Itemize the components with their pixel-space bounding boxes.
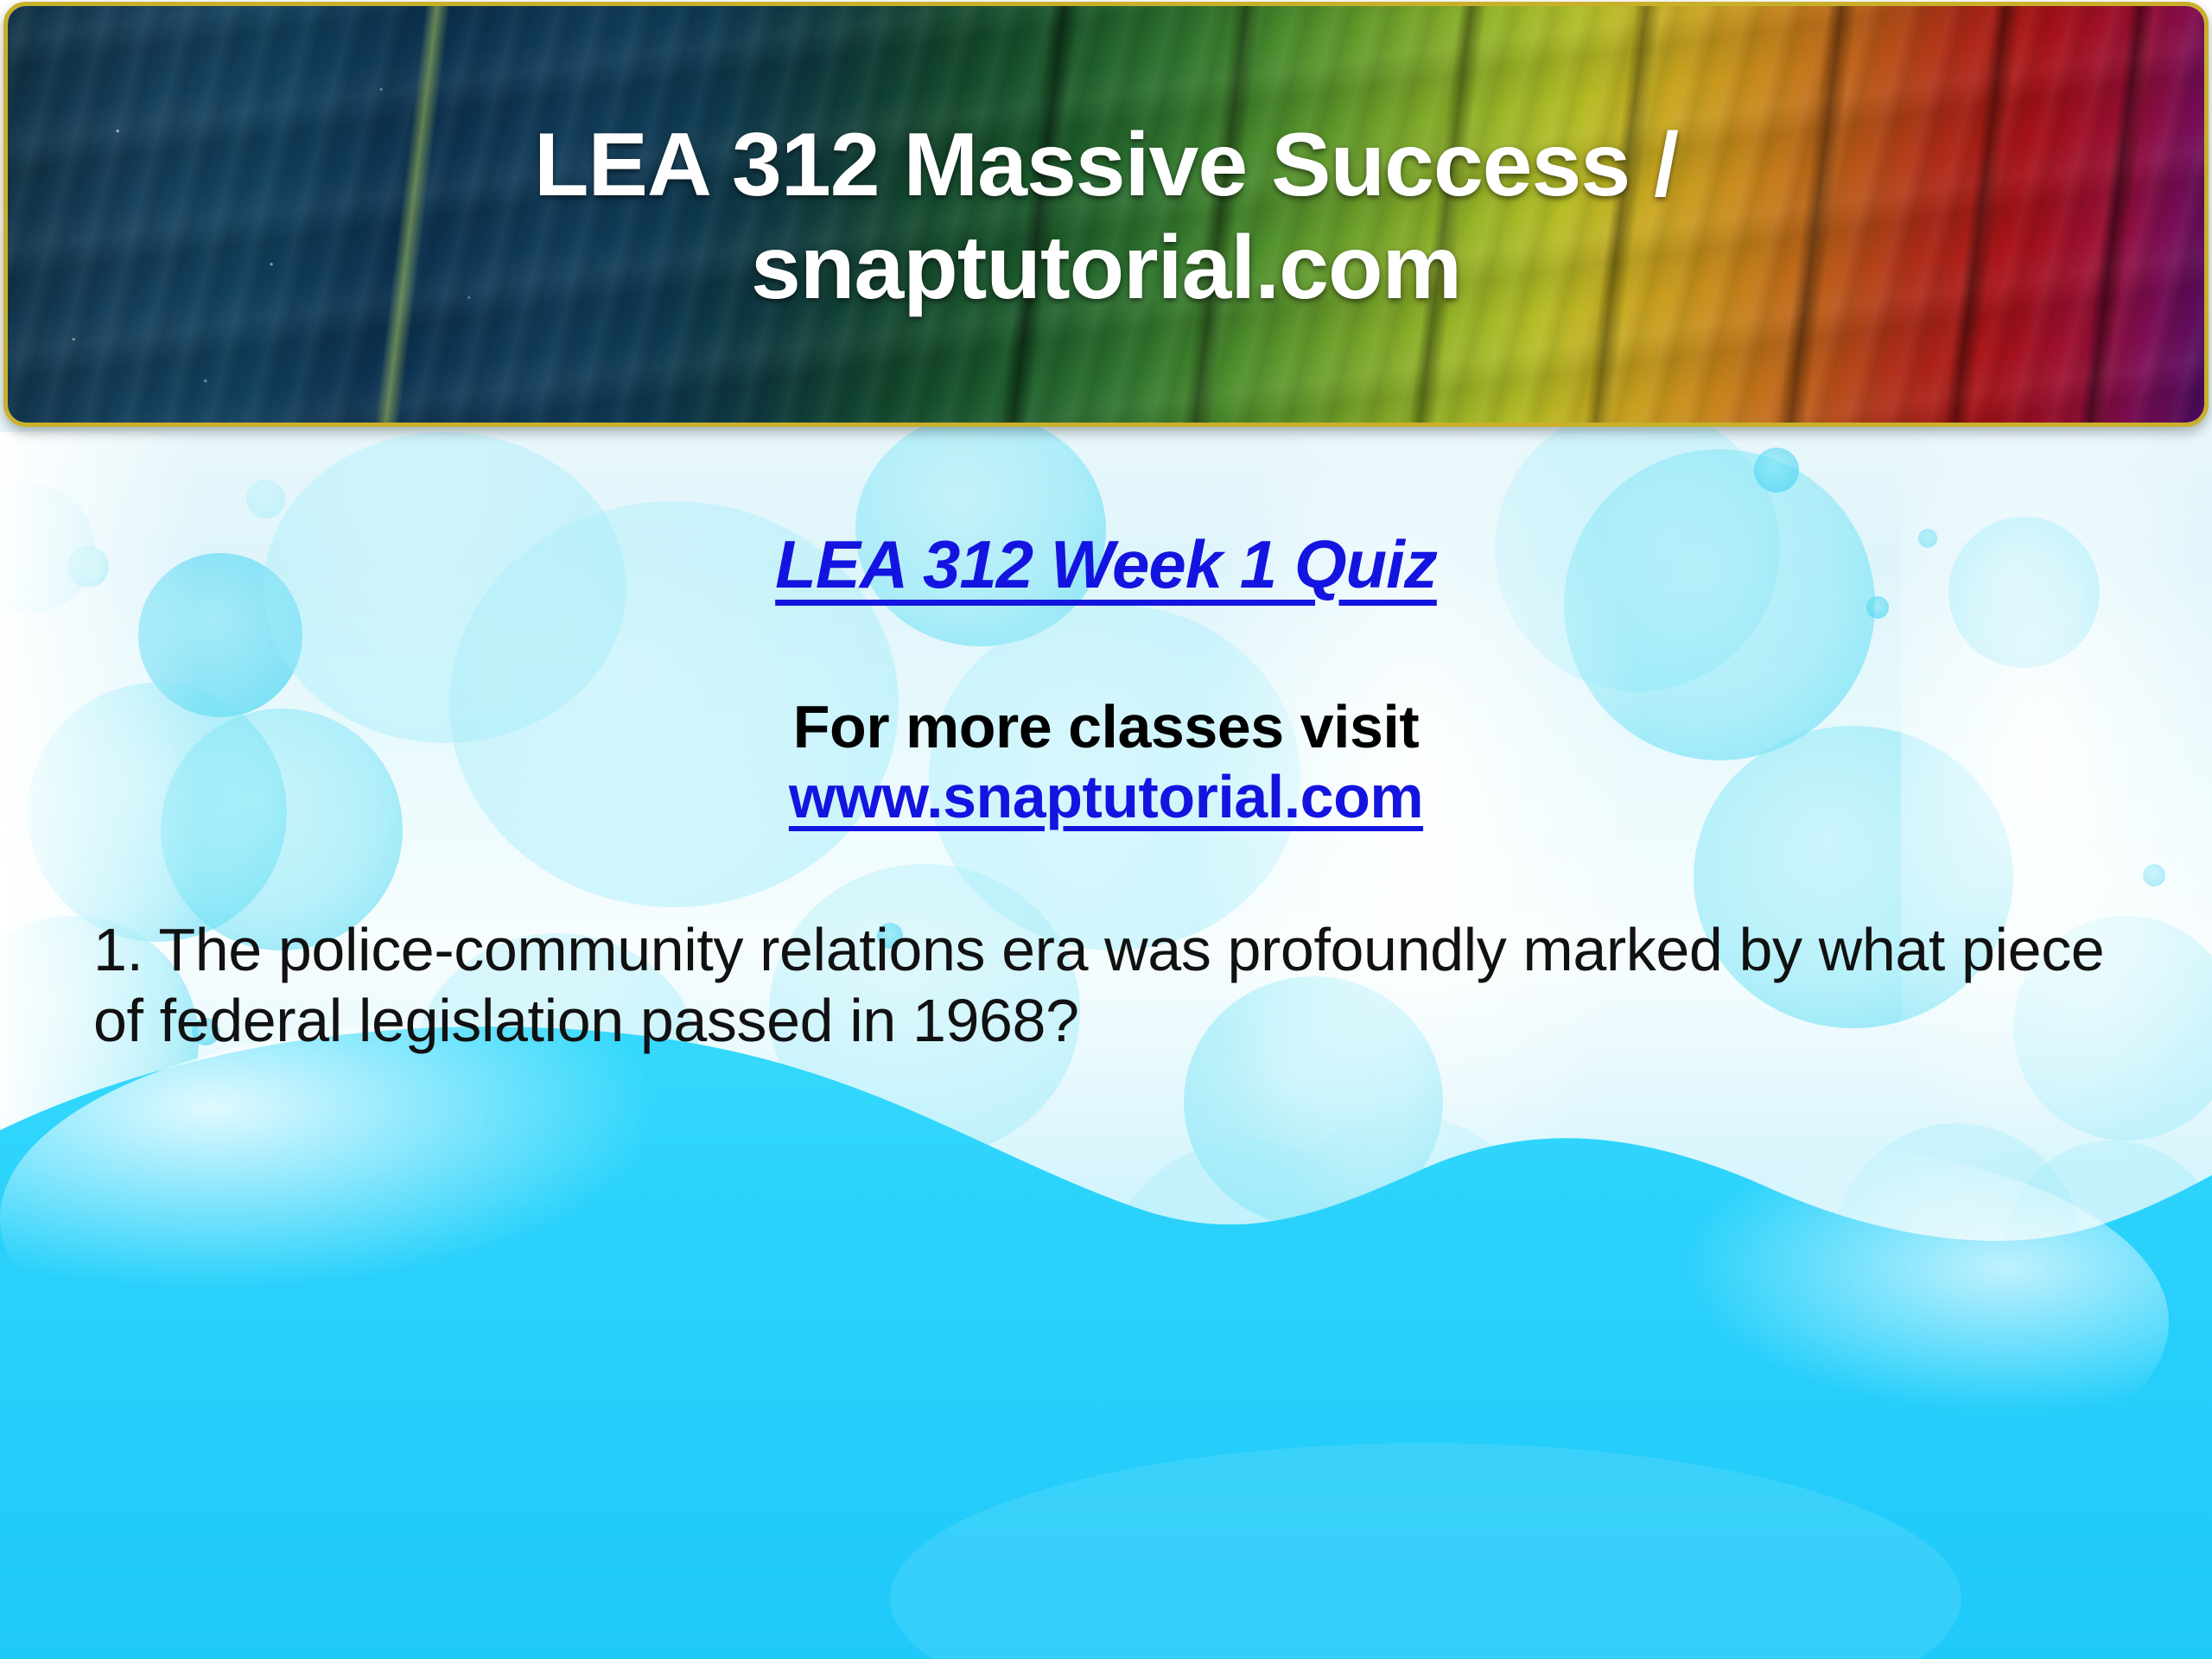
slide-content: LEA 312 Week 1 Quiz For more classes vis… xyxy=(0,432,2212,1056)
quiz-title-link[interactable]: LEA 312 Week 1 Quiz xyxy=(0,525,2212,604)
wave-decoration xyxy=(0,1002,2212,1659)
visit-label: For more classes visit xyxy=(0,692,2212,762)
page-title-line-2: snaptutorial.com xyxy=(751,217,1461,320)
header-banner: LEA 312 Massive Success / snaptutorial.c… xyxy=(3,2,2209,427)
page-title: LEA 312 Massive Success / snaptutorial.c… xyxy=(8,6,2204,423)
page-title-line-1: LEA 312 Massive Success / xyxy=(534,114,1678,217)
quiz-question-1: 1. The police-community relations era wa… xyxy=(93,915,2129,1055)
presentation-slide: LEA 312 Massive Success / snaptutorial.c… xyxy=(0,0,2212,1659)
visit-block: For more classes visit www.snaptutorial.… xyxy=(0,692,2212,832)
snaptutorial-link[interactable]: www.snaptutorial.com xyxy=(0,762,2212,832)
